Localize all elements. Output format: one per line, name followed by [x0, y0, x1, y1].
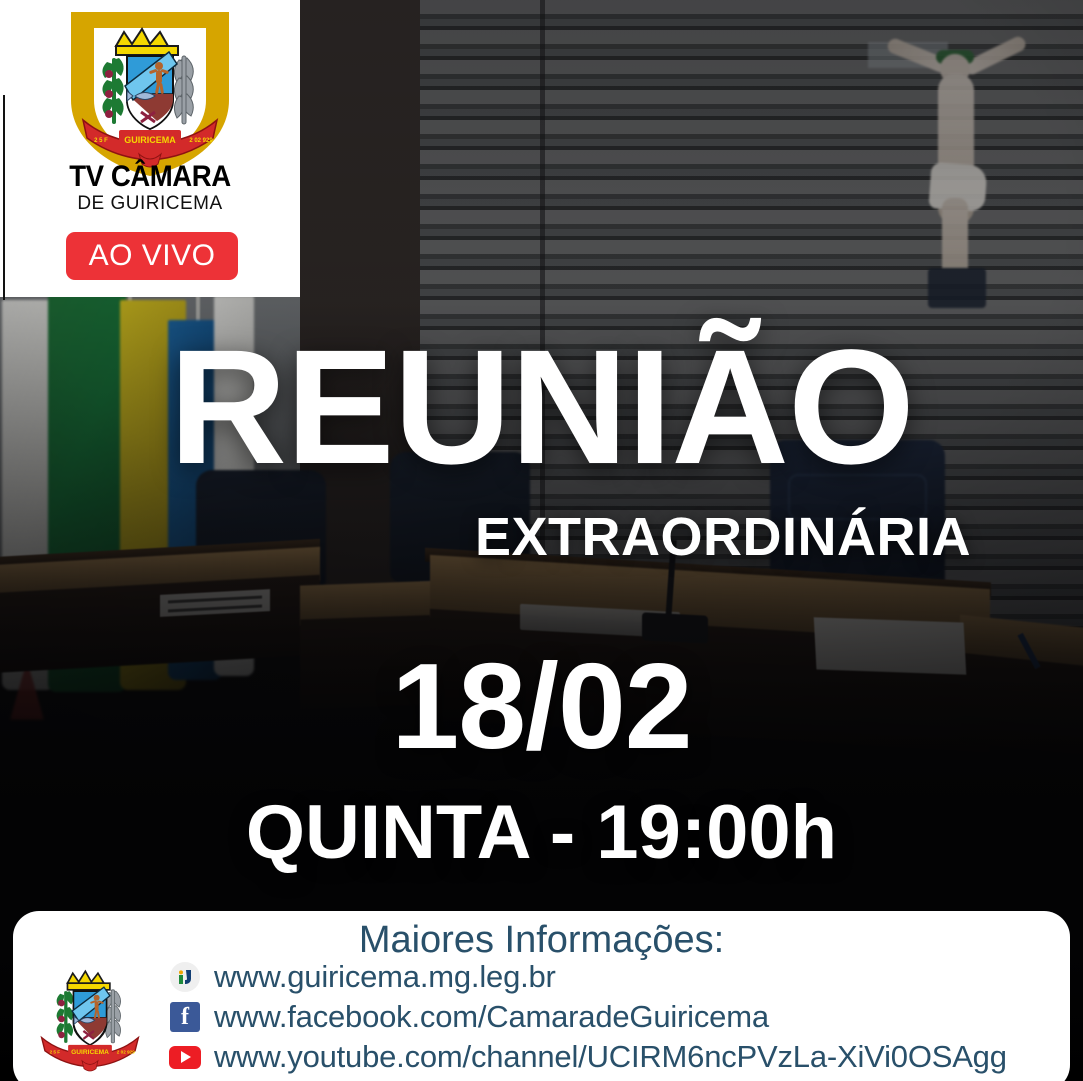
- more-information-card: Maiores Informações:: [13, 911, 1070, 1081]
- leg-br-icon: [168, 962, 202, 992]
- event-day-time: QUINTA - 19:00h: [0, 795, 1083, 871]
- event-poster: GUIRICEMA 2 5 F 2 02 929 TV CÂMARA DE GU…: [0, 0, 1083, 1081]
- svg-text:GUIRICEMA: GUIRICEMA: [71, 1049, 109, 1056]
- page-title: REUNIÃO: [0, 330, 1083, 485]
- facebook-icon: f: [168, 1002, 202, 1032]
- website-url: www.guiricema.mg.leg.br: [214, 959, 556, 995]
- event-date: 18/02: [0, 645, 1083, 767]
- link-row-youtube[interactable]: www.youtube.com/channel/UCIRM6ncPVzLa-Xi…: [168, 1038, 1007, 1076]
- link-row-facebook[interactable]: f www.facebook.com/CamaradeGuiricema: [168, 998, 1007, 1036]
- social-links-list: www.guiricema.mg.leg.br f www.facebook.c…: [168, 958, 1007, 1078]
- svg-text:2 02 929: 2 02 929: [117, 1049, 135, 1054]
- page-subtitle: EXTRAORDINÁRIA: [475, 506, 971, 568]
- youtube-icon: [168, 1042, 202, 1072]
- crest-small: GUIRICEMA 2 5 F 2 02 929: [31, 951, 149, 1081]
- youtube-url: www.youtube.com/channel/UCIRM6ncPVzLa-Xi…: [214, 1039, 1007, 1075]
- svg-text:2 02 929: 2 02 929: [189, 138, 213, 144]
- crest-large: GUIRICEMA 2 5 F 2 02 929: [61, 8, 239, 185]
- svg-text:2 5 F: 2 5 F: [50, 1049, 61, 1054]
- tv-camara-title: TV CÂMARA: [12, 160, 288, 194]
- tv-camara-logo-card: GUIRICEMA 2 5 F 2 02 929 TV CÂMARA DE GU…: [0, 0, 300, 297]
- svg-text:2 5 F: 2 5 F: [94, 138, 108, 144]
- more-information-title: Maiores Informações:: [13, 919, 1070, 962]
- svg-text:GUIRICEMA: GUIRICEMA: [124, 135, 176, 145]
- link-row-website[interactable]: www.guiricema.mg.leg.br: [168, 958, 1007, 996]
- facebook-url: www.facebook.com/CamaradeGuiricema: [214, 999, 769, 1035]
- ao-vivo-badge[interactable]: AO VIVO: [66, 232, 238, 280]
- tv-camara-subtitle: DE GUIRICEMA: [0, 193, 300, 215]
